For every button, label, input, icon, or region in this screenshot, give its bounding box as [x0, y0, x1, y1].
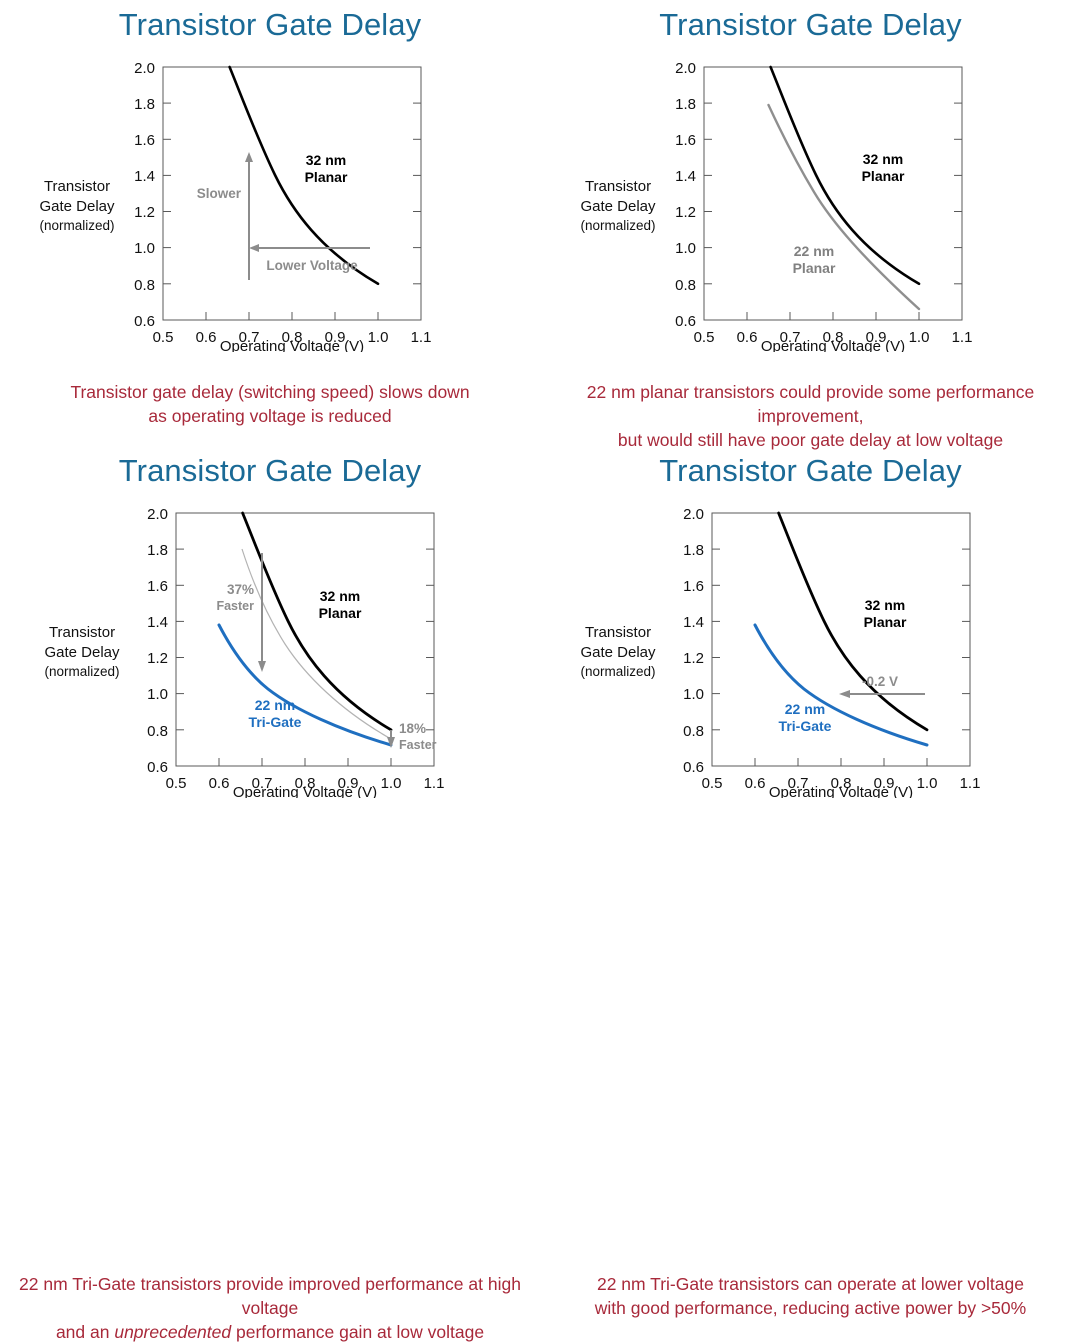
svg-text:0.6: 0.6	[196, 329, 217, 346]
svg-text:1.8: 1.8	[134, 96, 155, 113]
svg-text:1.0: 1.0	[368, 329, 389, 346]
svg-text:Gate Delay: Gate Delay	[580, 198, 656, 215]
svg-text:32 nm: 32 nm	[320, 588, 360, 604]
plot-frame	[176, 513, 434, 766]
chart-1-svg: 2.0 1.8 1.6 1.4 1.2 1.0 0.8 0.6 0.5 0.6 …	[0, 52, 540, 352]
svg-text:1.1: 1.1	[411, 329, 432, 346]
svg-text:Faster: Faster	[216, 599, 254, 613]
svg-text:1.0: 1.0	[909, 329, 930, 346]
svg-text:32 nm: 32 nm	[863, 151, 903, 167]
22nm-trigate-label: 22 nm Tri-Gate	[779, 701, 832, 734]
32nm-planar-label: 32 nm Planar	[864, 597, 907, 630]
y-axis-title: Transistor Gate Delay (normalized)	[44, 624, 120, 679]
svg-text:1.4: 1.4	[147, 614, 168, 631]
svg-text:-0.2 V: -0.2 V	[862, 674, 898, 689]
x-axis-title: Operating Voltage (V)	[769, 784, 913, 798]
svg-text:(normalized): (normalized)	[39, 218, 114, 233]
svg-text:18%: 18%	[399, 721, 426, 736]
chart-2: 2.0 1.8 1.6 1.4 1.2 1.0 0.8 0.6 0.5 0.6 …	[540, 52, 1081, 352]
caption-line-1: 22 nm planar transistors could provide s…	[540, 380, 1081, 428]
svg-text:2.0: 2.0	[675, 60, 696, 77]
svg-text:Planar: Planar	[319, 605, 362, 621]
svg-text:2.0: 2.0	[134, 60, 155, 77]
svg-text:0.6: 0.6	[147, 759, 168, 776]
svg-text:1.1: 1.1	[424, 775, 445, 792]
page-title: Transistor Gate Delay	[540, 6, 1081, 44]
caption-line-1: 22 nm Tri-Gate transistors provide impro…	[0, 1272, 540, 1320]
svg-text:0.6: 0.6	[209, 775, 230, 792]
svg-text:1.0: 1.0	[134, 240, 155, 257]
svg-text:2.0: 2.0	[147, 506, 168, 523]
svg-text:Slower: Slower	[197, 186, 242, 201]
svg-text:0.6: 0.6	[683, 759, 704, 776]
svg-text:1.2: 1.2	[134, 204, 155, 221]
chart-3: 2.0 1.8 1.6 1.4 1.2 1.0 0.8 0.6 0.5 0.6 …	[0, 498, 540, 798]
svg-text:37%: 37%	[227, 582, 254, 597]
chart-1: 2.0 1.8 1.6 1.4 1.2 1.0 0.8 0.6 0.5 0.6 …	[0, 52, 540, 352]
svg-text:1.8: 1.8	[675, 96, 696, 113]
panel-4-caption: 22 nm Tri-Gate transistors can operate a…	[540, 1272, 1081, 1320]
svg-text:1.2: 1.2	[147, 650, 168, 667]
svg-text:2.0: 2.0	[683, 506, 704, 523]
32nm-planar-label: 32 nm Planar	[305, 152, 348, 185]
y-tick-labels: 2.0 1.8 1.6 1.4 1.2 1.0 0.8 0.6	[147, 506, 168, 776]
plot-frame	[704, 67, 962, 320]
x-axis-title: Operating Voltage (V)	[220, 338, 364, 352]
svg-text:0.6: 0.6	[675, 313, 696, 330]
svg-text:1.0: 1.0	[917, 775, 938, 792]
svg-text:1.1: 1.1	[960, 775, 981, 792]
svg-text:1.8: 1.8	[683, 542, 704, 559]
svg-text:1.2: 1.2	[683, 650, 704, 667]
panel-3-caption: 22 nm Tri-Gate transistors provide impro…	[0, 1272, 540, 1344]
y-axis-title: Transistor Gate Delay (normalized)	[39, 178, 115, 233]
caption-line-2: with good performance, reducing active p…	[540, 1296, 1081, 1320]
svg-text:22 nm: 22 nm	[785, 701, 825, 717]
x-axis-title: Operating Voltage (V)	[761, 338, 905, 352]
svg-text:0.8: 0.8	[147, 723, 168, 740]
svg-text:Planar: Planar	[862, 168, 905, 184]
22nm-trigate-label: 22 nm Tri-Gate	[249, 697, 302, 730]
panel-1-caption: Transistor gate delay (switching speed) …	[0, 380, 540, 428]
chart-4: 2.0 1.8 1.6 1.4 1.2 1.0 0.8 0.6 0.5 0.6 …	[540, 498, 1081, 798]
svg-text:1.4: 1.4	[683, 614, 704, 631]
svg-text:1.6: 1.6	[675, 132, 696, 149]
svg-text:0.8: 0.8	[683, 723, 704, 740]
panel-grid: Transistor Gate Delay	[0, 0, 1081, 892]
caption-italic-word: unprecedented	[114, 1322, 231, 1342]
chart-2-svg: 2.0 1.8 1.6 1.4 1.2 1.0 0.8 0.6 0.5 0.6 …	[540, 52, 1081, 352]
32nm-planar-label: 32 nm Planar	[319, 588, 362, 621]
svg-text:(normalized): (normalized)	[580, 664, 655, 679]
svg-text:22 nm: 22 nm	[794, 243, 834, 259]
svg-text:1.2: 1.2	[675, 204, 696, 221]
svg-text:Transistor: Transistor	[44, 178, 110, 195]
22nm-planar-label: 22 nm Planar	[793, 243, 836, 276]
svg-text:Transistor: Transistor	[585, 624, 651, 641]
caption-line-2: and an unprecedented performance gain at…	[0, 1320, 540, 1344]
svg-text:0.6: 0.6	[737, 329, 758, 346]
svg-text:Gate Delay: Gate Delay	[39, 198, 115, 215]
svg-text:(normalized): (normalized)	[44, 664, 119, 679]
y-tick-labels: 2.0 1.8 1.6 1.4 1.2 1.0 0.8 0.6	[134, 60, 155, 330]
y-tick-labels: 2.0 1.8 1.6 1.4 1.2 1.0 0.8 0.6	[675, 60, 696, 330]
svg-text:1.1: 1.1	[952, 329, 973, 346]
plot-frame	[712, 513, 970, 766]
svg-text:Lower Voltage: Lower Voltage	[266, 258, 358, 273]
x-axis-title: Operating Voltage (V)	[233, 784, 377, 798]
svg-text:Gate Delay: Gate Delay	[580, 644, 656, 661]
svg-text:Planar: Planar	[305, 169, 348, 185]
caption-text-pre: and an	[56, 1322, 114, 1342]
y-tick-labels: 2.0 1.8 1.6 1.4 1.2 1.0 0.8 0.6	[683, 506, 704, 776]
page-title: Transistor Gate Delay	[0, 6, 540, 44]
svg-text:Planar: Planar	[793, 260, 836, 276]
svg-text:1.6: 1.6	[134, 132, 155, 149]
panel-2-caption: 22 nm planar transistors could provide s…	[540, 380, 1081, 452]
caption-line-1: Transistor gate delay (switching speed) …	[0, 380, 540, 404]
32nm-planar-label: 32 nm Planar	[862, 151, 905, 184]
svg-text:0.6: 0.6	[745, 775, 766, 792]
svg-text:0.5: 0.5	[694, 329, 715, 346]
page-title: Transistor Gate Delay	[0, 452, 540, 490]
svg-text:1.0: 1.0	[381, 775, 402, 792]
svg-text:Faster: Faster	[399, 738, 437, 752]
panel-2: Transistor Gate Delay	[540, 0, 1081, 446]
svg-text:Tri-Gate: Tri-Gate	[779, 718, 832, 734]
panel-1: Transistor Gate Delay	[0, 0, 540, 446]
svg-text:1.0: 1.0	[147, 686, 168, 703]
svg-text:0.5: 0.5	[702, 775, 723, 792]
svg-text:0.8: 0.8	[675, 277, 696, 294]
y-axis-title: Transistor Gate Delay (normalized)	[580, 178, 656, 233]
svg-text:32 nm: 32 nm	[306, 152, 346, 168]
chart-3-svg: 2.0 1.8 1.6 1.4 1.2 1.0 0.8 0.6 0.5 0.6 …	[0, 498, 540, 798]
svg-text:Tri-Gate: Tri-Gate	[249, 714, 302, 730]
svg-text:0.6: 0.6	[134, 313, 155, 330]
svg-text:1.0: 1.0	[675, 240, 696, 257]
page-title: Transistor Gate Delay	[540, 452, 1081, 490]
svg-text:22 nm: 22 nm	[255, 697, 295, 713]
svg-text:Planar: Planar	[864, 614, 907, 630]
svg-text:32 nm: 32 nm	[865, 597, 905, 613]
svg-text:0.8: 0.8	[134, 277, 155, 294]
svg-text:1.4: 1.4	[675, 168, 696, 185]
svg-text:0.5: 0.5	[153, 329, 174, 346]
svg-text:1.4: 1.4	[134, 168, 155, 185]
panel-4: Transistor Gate Delay	[540, 446, 1081, 892]
svg-text:Gate Delay: Gate Delay	[44, 644, 120, 661]
panel-3: Transistor Gate Delay	[0, 446, 540, 892]
caption-line-1: 22 nm Tri-Gate transistors can operate a…	[540, 1272, 1081, 1296]
caption-text-post: performance gain at low voltage	[231, 1322, 484, 1342]
svg-text:1.6: 1.6	[683, 578, 704, 595]
lower-voltage-annotation: Lower Voltage	[249, 244, 370, 273]
svg-text:0.5: 0.5	[166, 775, 187, 792]
svg-text:(normalized): (normalized)	[580, 218, 655, 233]
y-axis-title: Transistor Gate Delay (normalized)	[580, 624, 656, 679]
svg-text:1.0: 1.0	[683, 686, 704, 703]
chart-4-svg: 2.0 1.8 1.6 1.4 1.2 1.0 0.8 0.6 0.5 0.6 …	[540, 498, 1081, 798]
svg-text:1.8: 1.8	[147, 542, 168, 559]
svg-text:1.6: 1.6	[147, 578, 168, 595]
caption-line-2: as operating voltage is reduced	[0, 404, 540, 428]
svg-text:Transistor: Transistor	[49, 624, 115, 641]
svg-text:Transistor: Transistor	[585, 178, 651, 195]
